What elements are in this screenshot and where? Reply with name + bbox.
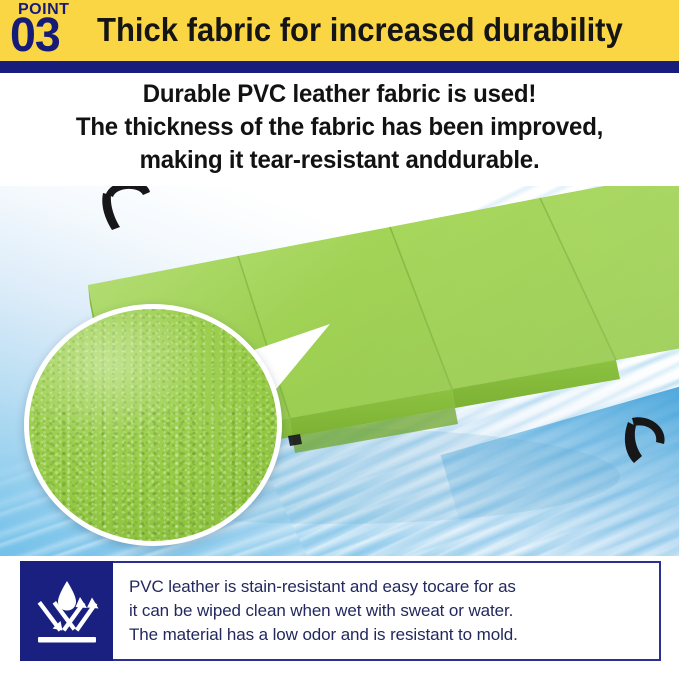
water-repellent-icon-box [20,561,113,661]
point-number: 03 [10,11,60,61]
infographic-page: POINT 03 Thick fabric for increased dura… [0,0,679,679]
callout-line-1: PVC leather is stain-resistant and easy … [129,575,649,599]
mat-hinge-detail [288,434,302,446]
callout-line-3: The material has a low odor and is resis… [129,623,649,647]
page-title: Thick fabric for increased durability [97,9,640,51]
callout-line-2: it can be wiped clean when wet with swea… [129,599,649,623]
mat-handle-left [106,186,150,197]
point-badge: POINT 03 [9,0,95,61]
magnifier-circle [24,304,282,546]
subtitle-line-2: The thickness of the fabric has been imp… [14,111,666,144]
subtitle-block: Durable PVC leather fabric is used! The … [14,78,666,177]
header-underline-bar [0,61,679,73]
product-photo [0,186,679,556]
magnifier-highlight [29,309,277,541]
subtitle-line-3: making it tear-resistant anddurable. [14,144,666,177]
mat-handle-right [632,417,665,444]
water-repellent-icon [34,575,100,647]
subtitle-line-1: Durable PVC leather fabric is used! [14,78,666,111]
feature-callout-text: PVC leather is stain-resistant and easy … [113,561,661,661]
feature-callout: PVC leather is stain-resistant and easy … [20,561,661,661]
header-banner: POINT 03 Thick fabric for increased dura… [0,0,679,61]
